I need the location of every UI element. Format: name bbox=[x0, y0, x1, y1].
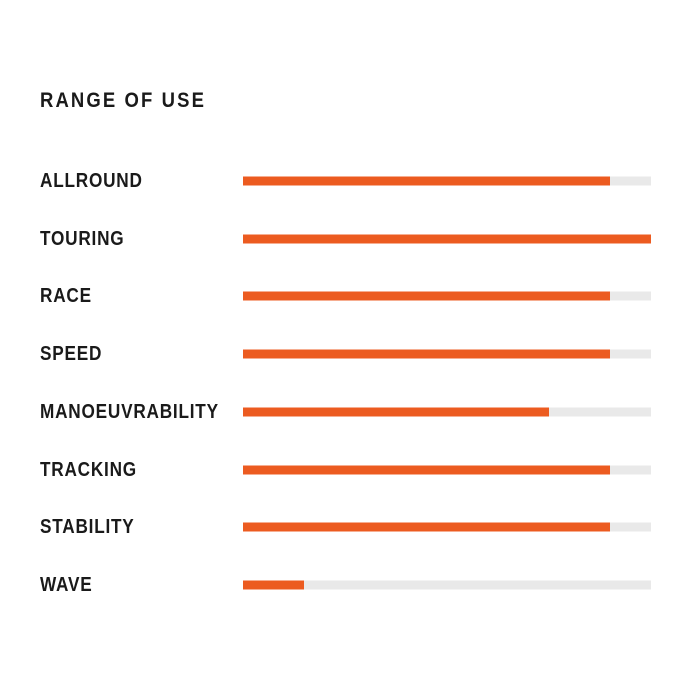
spec-row-meter-track bbox=[243, 523, 651, 532]
spec-row: SPEED bbox=[0, 339, 700, 369]
spec-row-meter-fill bbox=[243, 580, 304, 589]
spec-row-meter-fill bbox=[243, 350, 610, 359]
spec-row-meter-track bbox=[243, 292, 651, 301]
spec-row-label: ALLROUND bbox=[40, 170, 143, 192]
spec-row-meter-track bbox=[243, 350, 651, 359]
spec-row-meter-track bbox=[243, 580, 651, 589]
spec-row: STABILITY bbox=[0, 512, 700, 542]
spec-rows-list: ALLROUNDTOURINGRACESPEEDMANOEUVRABILITYT… bbox=[0, 0, 700, 700]
spec-row-meter-track bbox=[243, 465, 651, 474]
spec-row-meter-fill bbox=[243, 407, 549, 416]
spec-row-meter-fill bbox=[243, 234, 651, 243]
spec-row: ALLROUND bbox=[0, 166, 700, 196]
spec-row-label: STABILITY bbox=[40, 516, 135, 538]
spec-row-meter-track bbox=[243, 177, 651, 186]
spec-row: WAVE bbox=[0, 570, 700, 600]
spec-row: TRACKING bbox=[0, 455, 700, 485]
spec-row-meter-fill bbox=[243, 177, 610, 186]
spec-row-label: TOURING bbox=[40, 228, 124, 250]
spec-row-label: RACE bbox=[40, 285, 92, 307]
spec-row-meter-fill bbox=[243, 523, 610, 532]
spec-row: TOURING bbox=[0, 224, 700, 254]
spec-row: MANOEUVRABILITY bbox=[0, 397, 700, 427]
spec-row-meter-track bbox=[243, 234, 651, 243]
range-of-use-panel: RANGE OF USE ALLROUNDTOURINGRACESPEEDMAN… bbox=[0, 0, 700, 700]
spec-row: RACE bbox=[0, 281, 700, 311]
spec-row-meter-fill bbox=[243, 292, 610, 301]
spec-row-meter-track bbox=[243, 407, 651, 416]
spec-row-label: WAVE bbox=[40, 574, 92, 596]
spec-row-label: MANOEUVRABILITY bbox=[40, 401, 219, 423]
spec-row-label: SPEED bbox=[40, 343, 102, 365]
spec-row-label: TRACKING bbox=[40, 459, 137, 481]
spec-row-meter-fill bbox=[243, 465, 610, 474]
